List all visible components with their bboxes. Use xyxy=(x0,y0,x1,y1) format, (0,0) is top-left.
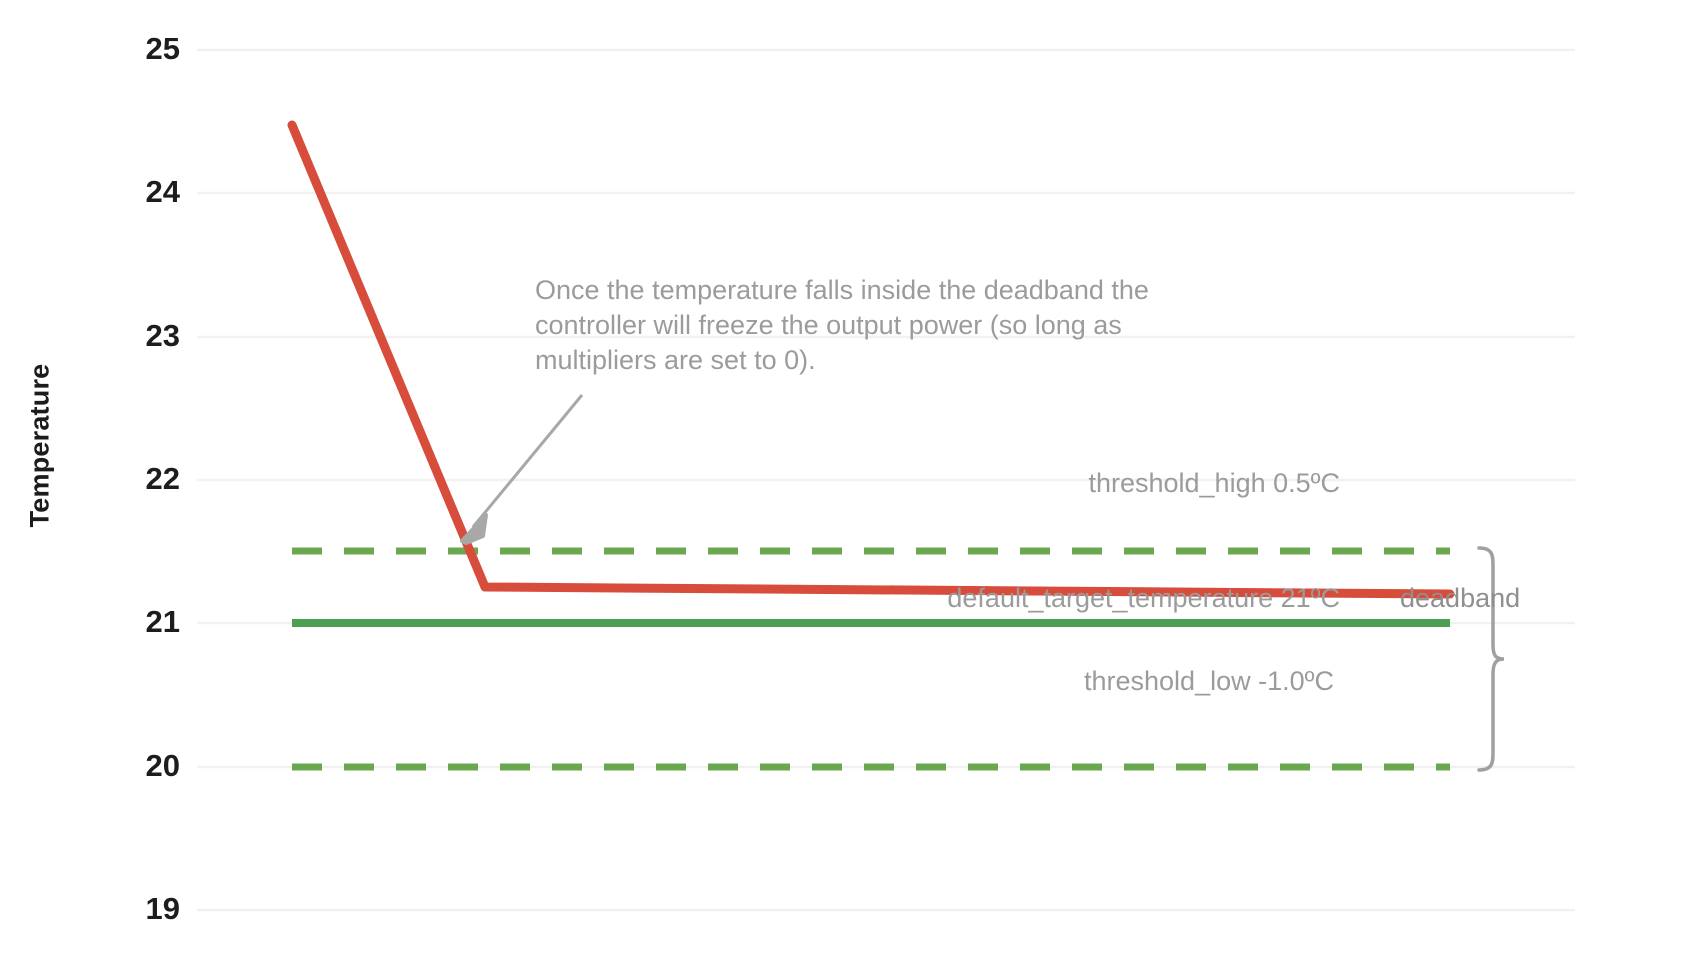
y-tick-label-20: 20 xyxy=(120,750,180,781)
y-tick-label-19: 19 xyxy=(120,893,180,924)
y-tick-label-25: 25 xyxy=(120,33,180,64)
y-tick-label-22: 22 xyxy=(120,463,180,494)
y-tick-label-23: 23 xyxy=(120,320,180,351)
y-tick-label-21: 21 xyxy=(120,606,180,637)
default-target-temperature-label: default_target_temperature 21ºC xyxy=(700,583,1340,614)
y-tick-label-24: 24 xyxy=(120,176,180,207)
temperature-deadband-chart: Temperature 25 24 23 22 21 20 19 Once th… xyxy=(0,0,1700,960)
threshold-high-label: threshold_high 0.5ºC xyxy=(840,468,1340,499)
deadband-callout-text: Once the temperature falls inside the de… xyxy=(535,273,1215,378)
threshold-low-label: threshold_low -1.0ºC xyxy=(840,666,1334,697)
deadband-brace xyxy=(1479,548,1504,770)
y-axis-title: Temperature xyxy=(25,336,56,556)
deadband-label: deadband xyxy=(1400,583,1520,614)
callout-arrow xyxy=(462,395,582,543)
